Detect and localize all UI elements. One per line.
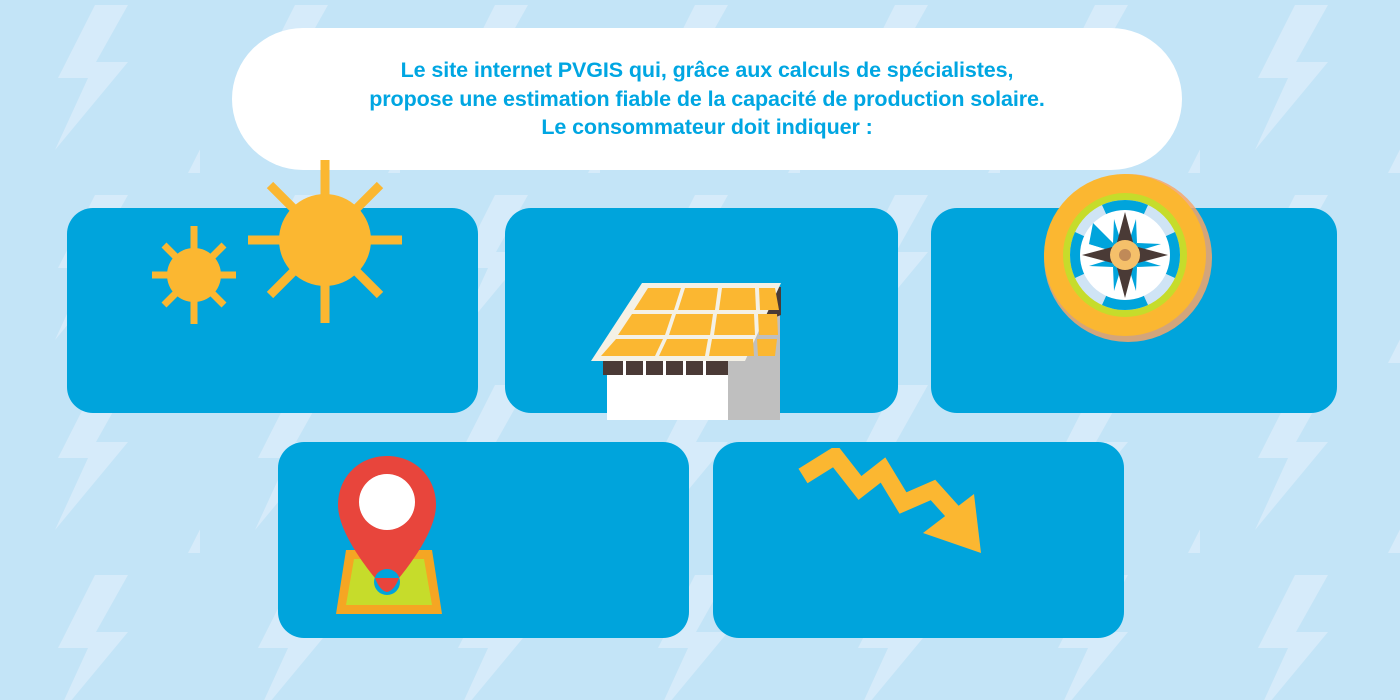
- card-orientation-du-toit[interactable]: [931, 208, 1337, 413]
- card-pente-du-toit[interactable]: [505, 208, 898, 413]
- card-pertes-moyennes-du-kit[interactable]: [713, 442, 1124, 638]
- intro-callout-text: Le site internet PVGIS qui, grâce aux ca…: [343, 56, 1071, 141]
- card-lieu-geographique[interactable]: [278, 442, 689, 638]
- intro-callout-bubble: Le site internet PVGIS qui, grâce aux ca…: [232, 28, 1182, 170]
- card-puissance-solaire[interactable]: [67, 208, 478, 413]
- infographic-canvas: Le site internet PVGIS qui, grâce aux ca…: [0, 0, 1400, 700]
